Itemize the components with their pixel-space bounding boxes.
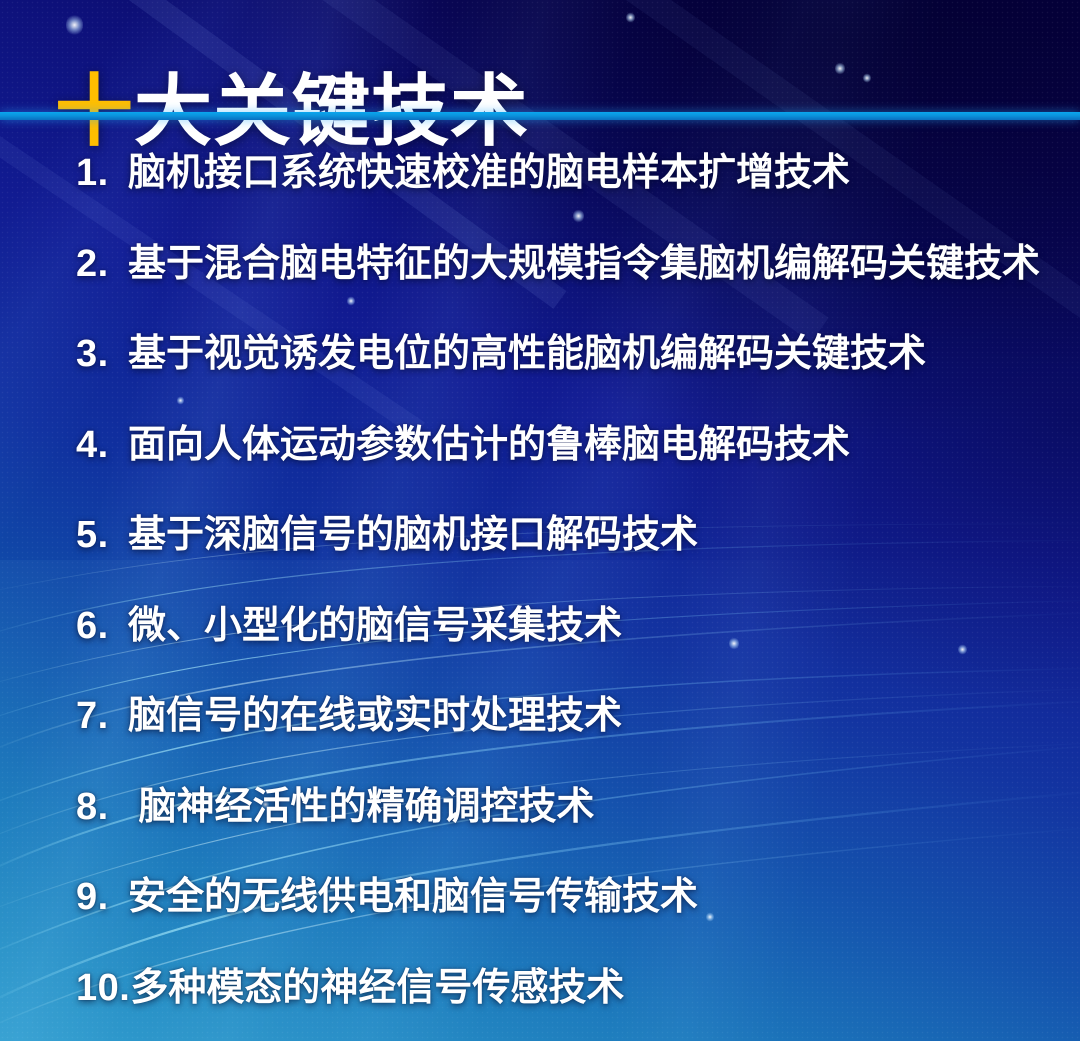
list-item-index: 1.	[76, 150, 128, 196]
list-item-index: 6.	[76, 603, 128, 649]
header-accent-rule	[0, 112, 1080, 120]
list-item-label: 多种模态的神经信号传感技术	[130, 965, 624, 1011]
list-item-label: 安全的无线供电和脑信号传输技术	[128, 874, 698, 920]
list-item-index: 10.	[76, 965, 130, 1011]
slide-header: 十大关键技术	[0, 0, 1080, 118]
list-item-index: 7.	[76, 693, 128, 739]
list-item: 8. 脑神经活性的精确调控技术	[0, 784, 1080, 830]
list-item: 3. 基于视觉诱发电位的高性能脑机编解码关键技术	[0, 331, 1080, 377]
list-item: 5. 基于深脑信号的脑机接口解码技术	[0, 512, 1080, 558]
list-item: 1. 脑机接口系统快速校准的脑电样本扩增技术	[0, 150, 1080, 196]
list-item-index: 4.	[76, 422, 128, 468]
list-item-label: 面向人体运动参数估计的鲁棒脑电解码技术	[128, 422, 850, 468]
list-item: 7. 脑信号的在线或实时处理技术	[0, 693, 1080, 739]
list-item: 10. 多种模态的神经信号传感技术	[0, 965, 1080, 1011]
list-item-label: 基于混合脑电特征的大规模指令集脑机编解码关键技术	[128, 241, 1040, 287]
list-item-index: 5.	[76, 512, 128, 558]
list-item: 2. 基于混合脑电特征的大规模指令集脑机编解码关键技术	[0, 241, 1080, 287]
list-item: 6. 微、小型化的脑信号采集技术	[0, 603, 1080, 649]
list-item: 9. 安全的无线供电和脑信号传输技术	[0, 874, 1080, 920]
list-item-index: 9.	[76, 874, 128, 920]
list-item-label: 基于深脑信号的脑机接口解码技术	[128, 512, 698, 558]
list-item-index: 8.	[76, 784, 128, 830]
technology-list: 1. 脑机接口系统快速校准的脑电样本扩增技术 2. 基于混合脑电特征的大规模指令…	[0, 128, 1080, 1033]
list-item: 4. 面向人体运动参数估计的鲁棒脑电解码技术	[0, 422, 1080, 468]
slide-root: 十大关键技术 1. 脑机接口系统快速校准的脑电样本扩增技术 2. 基于混合脑电特…	[0, 0, 1080, 1041]
list-item-index: 2.	[76, 241, 128, 287]
list-item-label: 脑信号的在线或实时处理技术	[128, 693, 622, 739]
list-item-label: 脑神经活性的精确调控技术	[128, 784, 595, 830]
list-item-label: 脑机接口系统快速校准的脑电样本扩增技术	[128, 150, 850, 196]
list-item-index: 3.	[76, 331, 128, 377]
list-item-label: 微、小型化的脑信号采集技术	[128, 603, 622, 649]
list-item-label: 基于视觉诱发电位的高性能脑机编解码关键技术	[128, 331, 926, 377]
